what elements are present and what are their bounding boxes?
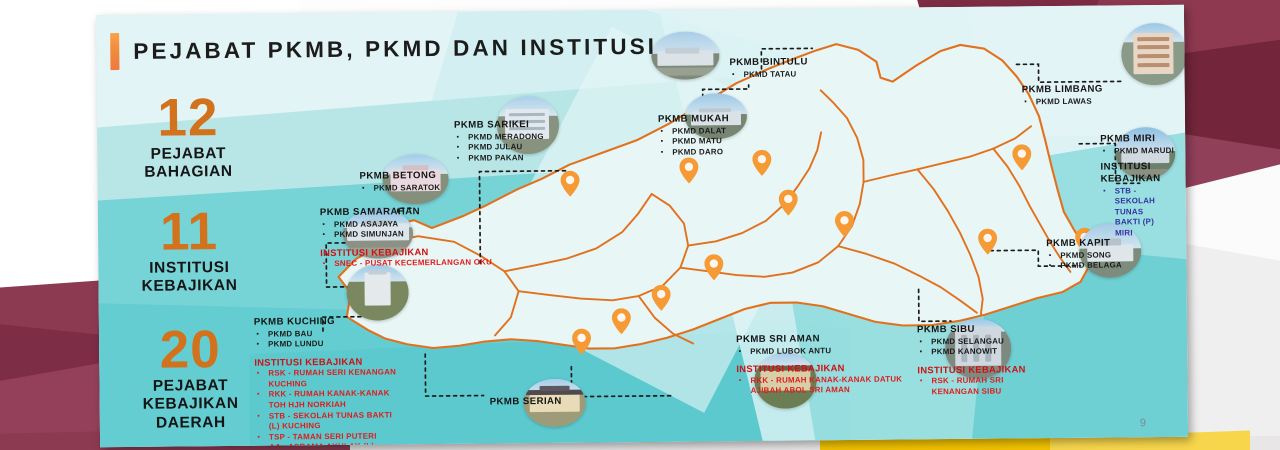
district-list: PKMD DALAT PKMD MATU PKMD DARO xyxy=(658,126,729,158)
district-list: PKMD SONG PKMD BELAGA xyxy=(1046,250,1122,272)
office-name: PKMB SIBU xyxy=(917,323,1067,336)
institution-heading: INSTITUSI KEBAJIKAN xyxy=(320,245,492,258)
stat-label-line3: DAERAH xyxy=(116,413,266,432)
map-pin-kapit[interactable] xyxy=(978,229,997,255)
office-name: PKMB BINTULU xyxy=(729,56,808,68)
stat-number: 11 xyxy=(114,206,264,259)
institution-item: RSK - RUMAH SRI KENANGAN SIBU xyxy=(917,375,1037,397)
district-list: PKMD LUBOK ANTU xyxy=(736,345,916,357)
label-bintulu: PKMB BINTULU PKMD TATAU xyxy=(729,56,808,80)
district-list: PKMD TATAU xyxy=(730,69,809,80)
institution-item: RSK - RUMAH SERI KENANGAN KUCHING xyxy=(254,367,404,390)
institution-heading-line2: KEBAJIKAN xyxy=(1101,173,1185,186)
map-pin-bintulu[interactable] xyxy=(752,150,771,176)
stat-label-line1: PEJABAT xyxy=(115,377,265,396)
label-mukah: PKMB MUKAH PKMD DALAT PKMD MATU PKMD DAR… xyxy=(658,113,730,158)
institution-heading: INSTITUSI KEBAJIKAN xyxy=(736,362,916,375)
district-list: PKMD ASAJAYA PKMD SIMUNJAN xyxy=(320,218,492,241)
label-kuching: PKMB KUCHING PKMD BAU PKMD LUNDU INSTITU… xyxy=(254,315,431,447)
district-item: PKMD PAKAN xyxy=(454,153,544,164)
office-name: PKMB SRI AMAN xyxy=(736,332,916,345)
photo-bintulu-office xyxy=(651,31,719,80)
institution-heading: INSTITUSI KEBAJIKAN xyxy=(917,363,1067,376)
label-sarikei: PKMB SARIKEI PKMD MERADONG PKMD JULAU PK… xyxy=(454,119,544,164)
stat-label-line1: INSTITUSI xyxy=(114,259,264,278)
stat-number: 12 xyxy=(113,92,263,145)
stat-card-pejabat-bahagian: 12 PEJABAT BAHAGIAN xyxy=(113,92,264,182)
label-betong: PKMB BETONG PKMD SARATOK xyxy=(359,170,440,194)
district-item: PKMD SONG xyxy=(1046,250,1122,261)
label-sibu: PKMB SIBU PKMD SELANGAU PKMD KANOWIT INS… xyxy=(917,323,1068,398)
institution-item: STB - SEKOLAH TUNAS BAKTI (L) KUCHING xyxy=(255,410,405,433)
photo-limbang-office xyxy=(1121,23,1188,86)
map-pin-mukah-coast[interactable] xyxy=(679,157,698,183)
district-item: PKMD SIMUNJAN xyxy=(320,229,492,241)
district-item: PKMD LUBOK ANTU xyxy=(736,345,916,357)
stat-label-line1: PEJABAT xyxy=(113,145,263,164)
institution-heading: INSTITUSI KEBAJIKAN xyxy=(254,355,429,368)
label-samarahan: PKMB SAMARAHAN PKMD ASAJAYA PKMD SIMUNJA… xyxy=(320,205,492,269)
institution-list: RSK - RUMAH SRI KENANGAN SIBU xyxy=(917,375,1037,397)
map-pin-mukah[interactable] xyxy=(779,190,798,216)
institution-item: SNEC - PUSAT KECEMERLANGAN OKU xyxy=(320,258,492,270)
page-number: 9 xyxy=(1140,417,1146,429)
district-list: PKMD BAU PKMD LUNDU xyxy=(254,328,429,351)
map-pin-betong[interactable] xyxy=(652,285,671,311)
stat-label-line2: BAHAGIAN xyxy=(113,163,263,182)
institution-item: STB - SEKOLAH TUNAS BAKTI (P) MIRI xyxy=(1101,186,1172,240)
district-item: PKMD TATAU xyxy=(730,69,809,80)
stat-card-pejabat-kebajikan-daerah: 20 PEJABAT KEBAJIKAN DAERAH xyxy=(115,324,266,432)
district-list: PKMD SARATOK xyxy=(360,183,441,194)
office-name: PKMB MIRI xyxy=(1100,133,1184,146)
office-name: PKMB SARIKEI xyxy=(454,119,544,132)
office-name: PKMB SERIAN xyxy=(490,396,562,408)
institution-list: RKK - RUMAH KANAK-KANAK DATUK AJIBAH ABO… xyxy=(736,374,906,397)
district-item: PKMD SARATOK xyxy=(360,183,441,194)
institution-list: SNEC - PUSAT KECEMERLANGAN OKU xyxy=(320,258,492,270)
district-item: PKMD MATU xyxy=(658,136,729,147)
district-list: PKMD MARUDI xyxy=(1100,145,1184,156)
institution-item: RKK - RUMAH KANAK-KANAK DATUK AJIBAH ABO… xyxy=(736,374,906,397)
stat-label-line2: KEBAJIKAN xyxy=(116,395,266,414)
stat-label-line2: KEBAJIKAN xyxy=(114,277,264,296)
label-miri: PKMB MIRI PKMD MARUDI INSTITUSI KEBAJIKA… xyxy=(1100,133,1185,239)
slide-title-row: PEJABAT PKMB, PKMD DAN INSTITUSI xyxy=(110,28,657,70)
map-pin-upper[interactable] xyxy=(560,171,579,197)
district-item: PKMD MARUDI xyxy=(1100,145,1184,156)
institution-item: RKK - RUMAH KANAK-KANAK TOH HJH NORKIAH xyxy=(255,389,405,412)
map-pin-kuching[interactable] xyxy=(572,328,591,354)
stat-number: 20 xyxy=(115,324,265,377)
office-name: PKMB LIMBANG xyxy=(1022,84,1103,96)
stat-card-institusi-kebajikan: 11 INSTITUSI KEBAJIKAN xyxy=(114,206,265,296)
district-item: PKMD LAWAS xyxy=(1022,96,1103,107)
institution-list: RSK - RUMAH SERI KENANGAN KUCHING RKK - … xyxy=(254,367,405,447)
slide-canvas: PEJABAT PKMB, PKMD DAN INSTITUSI 12 PEJA… xyxy=(96,5,1188,447)
office-name: PKMB MUKAH xyxy=(658,113,729,125)
office-name: PKMB KUCHING xyxy=(254,315,429,328)
office-name: PKMB BETONG xyxy=(359,170,440,182)
institution-heading-line1: INSTITUSI xyxy=(1100,161,1184,174)
office-name: PKMB KAPIT xyxy=(1046,237,1122,249)
map-pin-samarahan[interactable] xyxy=(612,308,631,334)
label-kapit: PKMB KAPIT PKMD SONG PKMD BELAGA xyxy=(1046,237,1122,272)
district-list: PKMD LAWAS xyxy=(1022,96,1103,107)
label-sri-aman: PKMB SRI AMAN PKMD LUBOK ANTU INSTITUSI … xyxy=(736,332,917,396)
map-pin-limbang[interactable] xyxy=(1012,144,1031,170)
label-limbang: PKMB LIMBANG PKMD LAWAS xyxy=(1022,84,1103,108)
institution-list: STB - SEKOLAH TUNAS BAKTI (P) MIRI xyxy=(1101,186,1172,240)
map-pin-sarikei[interactable] xyxy=(704,254,723,280)
district-item: PKMD LUNDU xyxy=(254,338,429,350)
district-list: PKMD SELANGAU PKMD KANOWIT xyxy=(917,336,1067,359)
photo-kuching-office xyxy=(346,264,409,321)
map-pin-bintulu-inland[interactable] xyxy=(835,211,854,237)
page-title: PEJABAT PKMB, PKMD DAN INSTITUSI xyxy=(133,33,657,64)
district-list: PKMD MERADONG PKMD JULAU PKMD PAKAN xyxy=(454,132,544,165)
office-name: PKMB SAMARAHAN xyxy=(320,205,492,218)
district-item: PKMD DALAT xyxy=(658,126,729,137)
district-item: PKMD KANOWIT xyxy=(917,346,1067,358)
district-item: PKMD BELAGA xyxy=(1046,261,1122,272)
label-serian: PKMB SERIAN xyxy=(490,396,562,408)
title-accent-bar xyxy=(110,33,119,70)
district-item: PKMD DARO xyxy=(658,147,729,158)
